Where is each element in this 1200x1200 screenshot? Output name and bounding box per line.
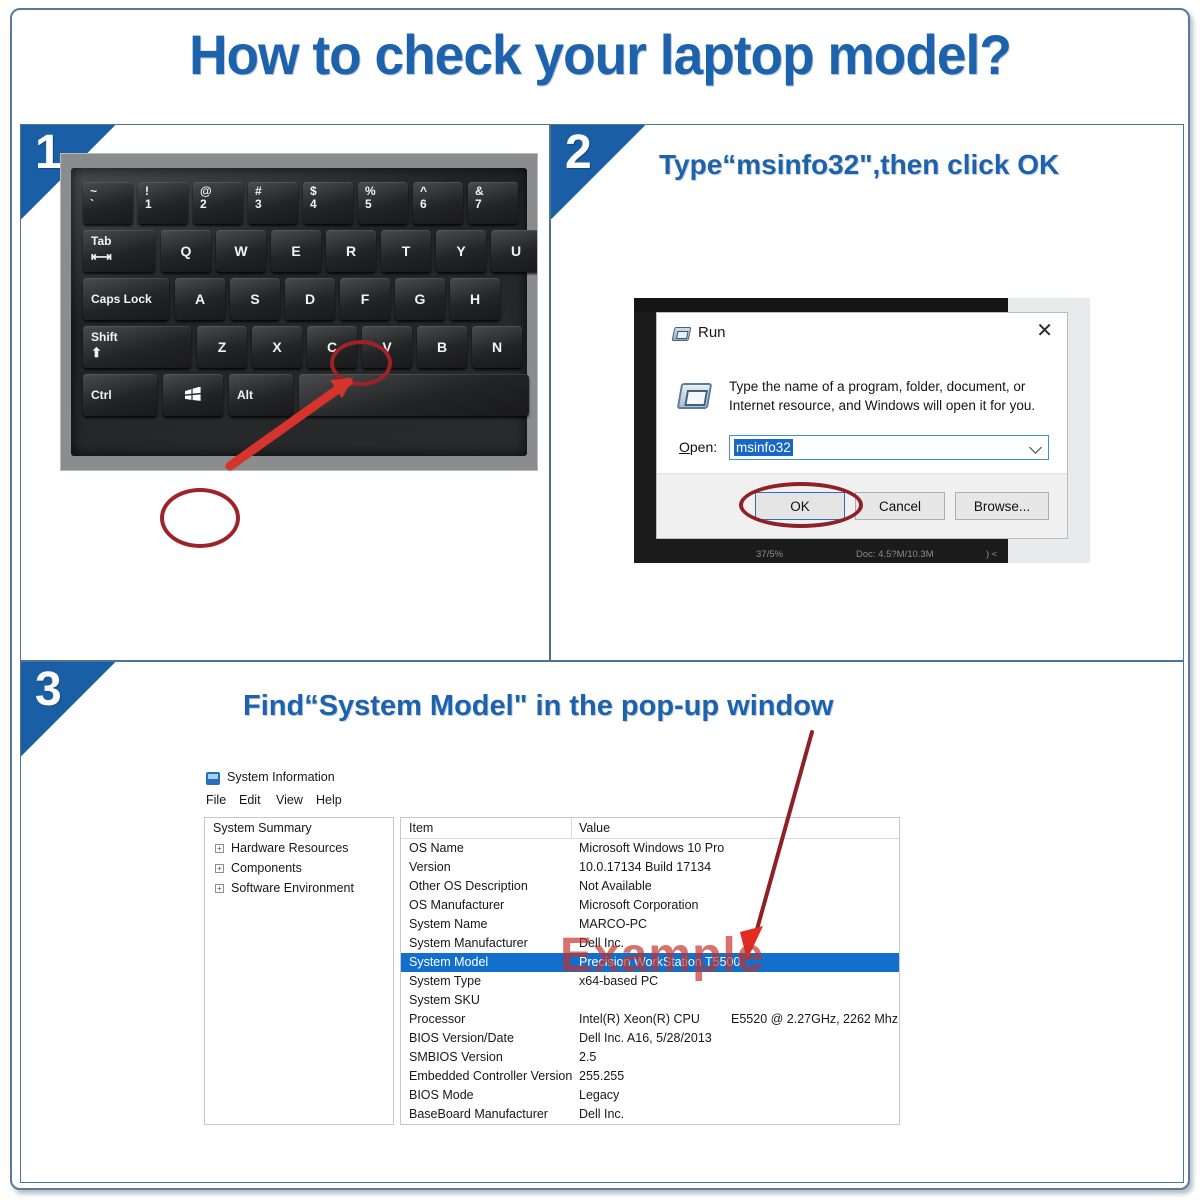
key-7[interactable]: & 7 — [468, 182, 518, 224]
key-w[interactable]: W — [216, 230, 266, 272]
key-bottom-legend: 3 — [255, 198, 298, 211]
key-backtick[interactable]: ~ ` — [83, 182, 133, 224]
cancel-button[interactable]: Cancel — [855, 492, 945, 520]
browse-button[interactable]: Browse... — [955, 492, 1049, 520]
run-window-icon — [672, 327, 692, 341]
key-bottom-legend: 4 — [310, 198, 353, 211]
row-item: BaseBoard Manufacturer — [409, 1107, 548, 1121]
key-6[interactable]: ^ 6 — [413, 182, 463, 224]
system-info-menubar: File Edit View Help — [202, 791, 902, 813]
table-row[interactable]: BIOS Version/Date Dell Inc. A16, 5/28/20… — [401, 1029, 899, 1048]
windows-logo-icon — [184, 387, 202, 403]
key-1[interactable]: ! 1 — [138, 182, 188, 224]
table-row[interactable]: Embedded Controller Version 255.255 — [401, 1067, 899, 1086]
expand-plus-icon[interactable]: + — [215, 844, 224, 853]
key-caps-lock[interactable]: Caps Lock — [83, 278, 169, 320]
key-alt[interactable]: Alt — [229, 374, 293, 416]
chevron-down-icon[interactable] — [1029, 441, 1042, 454]
expand-plus-icon[interactable]: + — [215, 864, 224, 873]
page-title: How to check your laptop model? — [41, 22, 1158, 87]
tree-item-software-environment[interactable]: + Software Environment — [205, 878, 393, 898]
step-3-heading: Find“System Model" in the pop-up window — [243, 690, 834, 723]
column-header-value[interactable]: Value — [579, 821, 610, 835]
poster-frame: How to check your laptop model? 1 Press … — [10, 8, 1190, 1190]
annotation-circle-ok-button — [739, 482, 863, 528]
key-4[interactable]: $ 4 — [303, 182, 353, 224]
row-item: Processor — [409, 1012, 465, 1026]
row-item: System Type — [409, 974, 481, 988]
key-tab-label: Tab — [91, 234, 155, 249]
key-top-legend: ^ — [420, 185, 463, 198]
key-top-legend: # — [255, 185, 298, 198]
key-u[interactable]: U — [491, 230, 538, 272]
step-3-number: 3 — [35, 666, 62, 714]
keyboard-row-qwerty: Tab ⇤⇥ Q W E R T Y U — [83, 230, 527, 278]
row-value: 10.0.17134 Build 17134 — [579, 860, 711, 874]
key-shift-label: Shift — [91, 330, 191, 345]
table-row[interactable]: OS Name Microsoft Windows 10 Pro — [401, 839, 899, 858]
row-item: System Model — [409, 955, 488, 969]
row-item: Embedded Controller Version — [409, 1069, 572, 1083]
key-shift[interactable]: Shift ⬆ — [83, 326, 191, 368]
table-row[interactable]: Other OS Description Not Available — [401, 877, 899, 896]
key-space[interactable] — [299, 374, 529, 416]
row-value: 255.255 — [579, 1069, 624, 1083]
keyboard-body: ~ ` ! 1 @ 2 # 3 — [71, 168, 527, 456]
tab-arrows-icon: ⇤⇥ — [91, 249, 155, 265]
table-row[interactable]: BaseBoard Manufacturer Dell Inc. — [401, 1105, 899, 1124]
system-information-screenshot: System Information File Edit View Help S… — [202, 767, 902, 1127]
row-item: Other OS Description — [409, 879, 528, 893]
table-row[interactable]: Processor Intel(R) Xeon(R) CPU E5520 @ 2… — [401, 1010, 899, 1029]
key-x[interactable]: X — [252, 326, 302, 368]
key-t[interactable]: T — [381, 230, 431, 272]
example-watermark: Example — [560, 928, 764, 983]
key-top-legend: @ — [200, 185, 243, 198]
menu-item-edit[interactable]: Edit — [239, 793, 261, 807]
system-info-titlebar: System Information — [202, 767, 902, 791]
status-left: 37/5% — [756, 549, 783, 560]
key-e[interactable]: E — [271, 230, 321, 272]
key-top-legend: & — [475, 185, 518, 198]
tree-item-label: Hardware Resources — [231, 841, 348, 855]
run-dialog-footer: OK Cancel Browse... — [657, 473, 1067, 538]
tree-item-label: Components — [231, 861, 302, 875]
row-value: Dell Inc. — [579, 1107, 624, 1121]
menu-item-file[interactable]: File — [206, 793, 226, 807]
run-program-icon — [677, 383, 713, 409]
system-info-window-title: System Information — [227, 770, 335, 784]
step-2-badge: 2 — [551, 125, 645, 219]
key-bottom-legend: 6 — [420, 198, 463, 211]
key-top-legend: ~ — [90, 185, 133, 198]
table-row[interactable]: SMBIOS Version 2.5 — [401, 1048, 899, 1067]
key-5[interactable]: % 5 — [358, 182, 408, 224]
key-ctrl[interactable]: Ctrl — [83, 374, 157, 416]
key-a[interactable]: A — [175, 278, 225, 320]
key-b[interactable]: B — [417, 326, 467, 368]
key-windows[interactable] — [163, 374, 223, 416]
status-middle: Doc: 4.5?M/10.3M — [856, 549, 934, 560]
keyboard-row-numbers: ~ ` ! 1 @ 2 # 3 — [83, 182, 527, 230]
menu-item-view[interactable]: View — [276, 793, 303, 807]
row-value: 2.5 — [579, 1050, 596, 1064]
key-q[interactable]: Q — [161, 230, 211, 272]
shift-arrow-icon: ⬆ — [91, 345, 191, 361]
keyboard-rows: ~ ` ! 1 @ 2 # 3 — [83, 182, 527, 422]
row-value: Intel(R) Xeon(R) CPU — [579, 1012, 700, 1026]
keyboard-photo: ~ ` ! 1 @ 2 # 3 — [60, 153, 538, 471]
menu-item-help[interactable]: Help — [316, 793, 342, 807]
key-n[interactable]: N — [472, 326, 522, 368]
key-bottom-legend: 5 — [365, 198, 408, 211]
key-bottom-legend: 7 — [475, 198, 518, 211]
key-top-legend: ! — [145, 185, 188, 198]
row-item: OS Name — [409, 841, 464, 855]
detail-column-headers: Item Value — [401, 818, 899, 839]
row-value: Dell Inc. A16, 5/28/2013 — [579, 1031, 712, 1045]
tree-item-hardware-resources[interactable]: + Hardware Resources — [205, 838, 393, 858]
key-y[interactable]: Y — [436, 230, 486, 272]
key-tab[interactable]: Tab ⇤⇥ — [83, 230, 155, 272]
row-item: System Name — [409, 917, 488, 931]
run-dialog-window: Run ✕ Type the name of a program, folder… — [656, 312, 1068, 539]
background-status-bar: 37/5% Doc: 4.5?M/10.3M ) < — [656, 549, 1090, 562]
table-row[interactable]: System SKU — [401, 991, 899, 1010]
key-top-legend: % — [365, 185, 408, 198]
row-item: BIOS Mode — [409, 1088, 474, 1102]
key-z[interactable]: Z — [197, 326, 247, 368]
step-2-heading: Type“msinfo32",then click OK — [659, 149, 1059, 181]
row-item: System Manufacturer — [409, 936, 528, 950]
keyboard-row-home: Caps Lock A S D F G H — [83, 278, 527, 326]
run-dialog-titlebar: Run ✕ — [657, 313, 1067, 359]
system-info-panes: System Summary + Hardware Resources + Co… — [204, 817, 900, 1125]
row-item: BIOS Version/Date — [409, 1031, 514, 1045]
step-2-number: 2 — [565, 129, 592, 177]
key-bottom-legend: 2 — [200, 198, 243, 211]
keyboard-row-shift: Shift ⬆ Z X C V B N — [83, 326, 527, 374]
run-dialog-screenshot: Run ✕ Type the name of a program, folder… — [634, 298, 1090, 563]
key-g[interactable]: G — [395, 278, 445, 320]
run-open-row: Open: msinfo32 — [657, 435, 1067, 465]
annotation-circle-windows-key — [160, 488, 240, 548]
status-right: ) < — [986, 549, 997, 560]
run-description: Type the name of a program, folder, docu… — [729, 378, 1049, 415]
system-info-window-icon — [206, 772, 220, 785]
close-icon[interactable]: ✕ — [1036, 321, 1053, 341]
step-3-badge: 3 — [21, 662, 115, 756]
open-field-label: Open: — [679, 439, 717, 455]
key-f[interactable]: F — [340, 278, 390, 320]
expand-plus-icon[interactable]: + — [215, 884, 224, 893]
table-row[interactable]: Version 10.0.17134 Build 17134 — [401, 858, 899, 877]
row-value: Not Available — [579, 879, 652, 893]
row-value: Legacy — [579, 1088, 619, 1102]
table-row[interactable]: BIOS Mode Legacy — [401, 1086, 899, 1105]
row-value-overflow: E5520 @ 2.27GHz, 2262 Mhz, … — [731, 1012, 900, 1026]
key-top-legend: $ — [310, 185, 353, 198]
system-info-tree: System Summary + Hardware Resources + Co… — [204, 817, 394, 1125]
key-h[interactable]: H — [450, 278, 500, 320]
key-r[interactable]: R — [326, 230, 376, 272]
annotation-circle-r-key — [330, 340, 392, 386]
open-combobox[interactable]: msinfo32 — [729, 435, 1049, 460]
key-bottom-legend: 1 — [145, 198, 188, 211]
column-header-item[interactable]: Item — [409, 821, 433, 835]
key-bottom-legend: ` — [90, 198, 133, 211]
key-d[interactable]: D — [285, 278, 335, 320]
row-item: OS Manufacturer — [409, 898, 504, 912]
row-value: Microsoft Corporation — [579, 898, 699, 912]
key-2[interactable]: @ 2 — [193, 182, 243, 224]
key-3[interactable]: # 3 — [248, 182, 298, 224]
row-value: Microsoft Windows 10 Pro — [579, 841, 724, 855]
step-1-number: 1 — [35, 129, 62, 177]
run-dialog-body: Type the name of a program, folder, docu… — [657, 359, 1067, 475]
tree-item-components[interactable]: + Components — [205, 858, 393, 878]
run-window-title: Run — [698, 324, 726, 341]
row-item: Version — [409, 860, 451, 874]
table-row[interactable]: OS Manufacturer Microsoft Corporation — [401, 896, 899, 915]
row-item: System SKU — [409, 993, 480, 1007]
open-input-value[interactable]: msinfo32 — [734, 439, 793, 456]
key-s[interactable]: S — [230, 278, 280, 320]
tree-item-system-summary[interactable]: System Summary — [205, 818, 393, 838]
keyboard-row-bottom: Ctrl Alt — [83, 374, 527, 422]
tree-item-label: Software Environment — [231, 881, 354, 895]
row-item: SMBIOS Version — [409, 1050, 503, 1064]
windows-logo-svg — [184, 387, 202, 403]
column-divider[interactable] — [571, 818, 572, 839]
